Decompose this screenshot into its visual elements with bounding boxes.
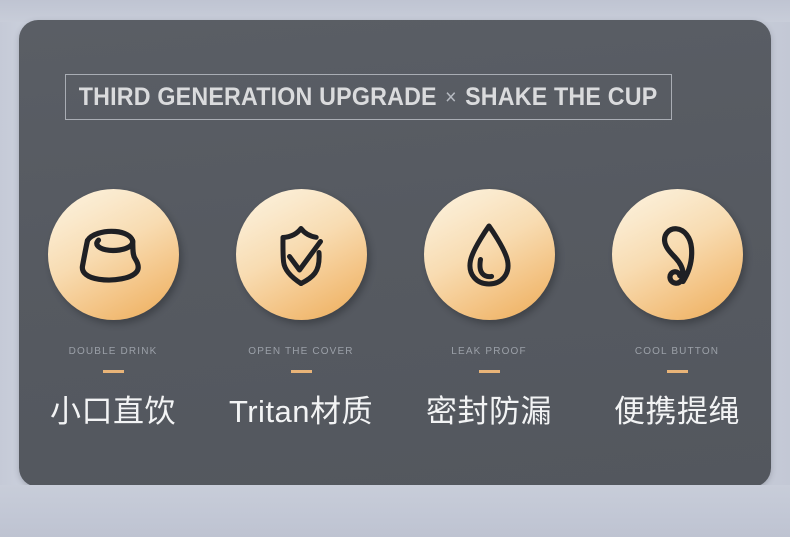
- headline-part1: THIRD GENERATION UPGRADE: [79, 83, 437, 111]
- divider-dash: [479, 370, 500, 373]
- headline-separator-x: ×: [437, 86, 465, 109]
- feature-label-en: DOUBLE DRINK: [69, 346, 158, 357]
- feature-label-en: LEAK PROOF: [451, 346, 526, 357]
- divider-dash: [667, 370, 688, 373]
- icon-badge: [612, 189, 743, 320]
- water-drop-icon: [449, 215, 529, 295]
- feature-item-leak-proof: LEAK PROOF 密封防漏: [395, 189, 583, 431]
- feature-label-cn: 密封防漏: [426, 386, 552, 431]
- feature-item-open-the-cover: OPEN THE COVER Tritan材质: [207, 189, 395, 431]
- promo-banner: THIRD GENERATION UPGRADE×SHAKE THE CUP D…: [0, 0, 790, 537]
- feature-list: DOUBLE DRINK 小口直饮 OPEN THE: [19, 189, 771, 431]
- headline-box: THIRD GENERATION UPGRADE×SHAKE THE CUP: [65, 74, 672, 120]
- headline: THIRD GENERATION UPGRADE×SHAKE THE CUP: [79, 83, 658, 112]
- lanyard-loop-icon: [637, 215, 717, 295]
- feature-label-en: COOL BUTTON: [635, 346, 719, 357]
- feature-label-en: OPEN THE COVER: [248, 346, 353, 357]
- feature-item-double-drink: DOUBLE DRINK 小口直饮: [19, 189, 207, 431]
- divider-dash: [103, 370, 124, 373]
- feature-item-cool-button: COOL BUTTON 便携提绳: [583, 189, 771, 431]
- feature-label-cn: Tritan材质: [229, 386, 373, 431]
- icon-badge: [424, 189, 555, 320]
- headline-part2: SHAKE THE CUP: [465, 83, 657, 111]
- feature-label-cn: 小口直饮: [50, 386, 176, 431]
- cup-lid-icon: [73, 215, 153, 295]
- feature-label-cn: 便携提绳: [614, 386, 740, 431]
- icon-badge: [48, 189, 179, 320]
- icon-badge: [236, 189, 367, 320]
- shield-check-icon: [261, 215, 341, 295]
- dark-panel: THIRD GENERATION UPGRADE×SHAKE THE CUP D…: [19, 20, 771, 487]
- divider-dash: [291, 370, 312, 373]
